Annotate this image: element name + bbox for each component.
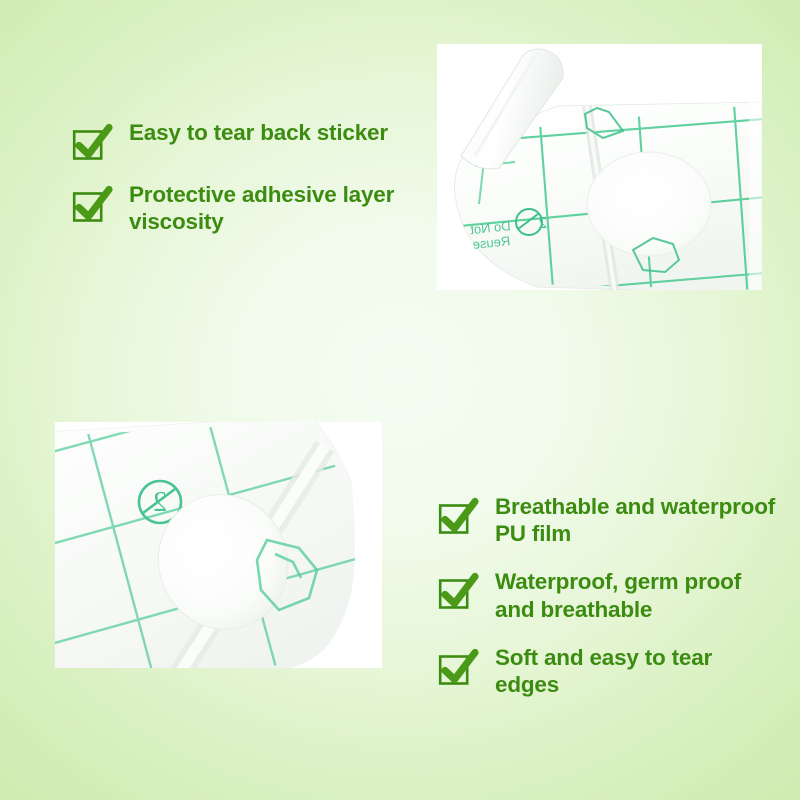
product-photo-top-right: Do Not Reuse 2 [437, 44, 762, 290]
feature-item[interactable]: Easy to tear back sticker [72, 118, 412, 162]
feature-item[interactable]: Protective adhesive layer viscosity [72, 180, 412, 235]
feature-label: Waterproof, germ proof and breathable [495, 567, 778, 622]
feature-label: Soft and easy to tear edges [495, 643, 778, 698]
dressing-illustration-peeled: Do Not Reuse 2 [437, 44, 762, 290]
checkbox-check-icon [438, 496, 478, 536]
svg-text:2: 2 [539, 213, 548, 232]
feature-item[interactable]: Breathable and waterproof PU film [438, 492, 778, 547]
feature-list-top: Easy to tear back sticker Protective adh… [72, 118, 412, 253]
feature-label: Protective adhesive layer viscosity [129, 180, 412, 235]
feature-label: Breathable and waterproof PU film [495, 492, 778, 547]
infographic-page: Do Not Reuse 2 [0, 0, 800, 800]
checkbox-check-icon [438, 647, 478, 687]
do-not-reuse-text: Do Not Reuse [469, 218, 513, 252]
feature-item[interactable]: Soft and easy to tear edges [438, 643, 778, 698]
checkbox-check-icon [72, 122, 112, 162]
dressing-illustration-closeup: Do Not Reuse 2 [55, 422, 382, 668]
checkbox-check-icon [72, 184, 112, 224]
feature-item[interactable]: Waterproof, germ proof and breathable [438, 567, 778, 622]
product-photo-bottom-left: Do Not Reuse 2 [55, 422, 382, 668]
feature-list-bottom: Breathable and waterproof PU film Waterp… [438, 492, 778, 718]
feature-label: Easy to tear back sticker [129, 118, 388, 146]
checkbox-check-icon [438, 571, 478, 611]
